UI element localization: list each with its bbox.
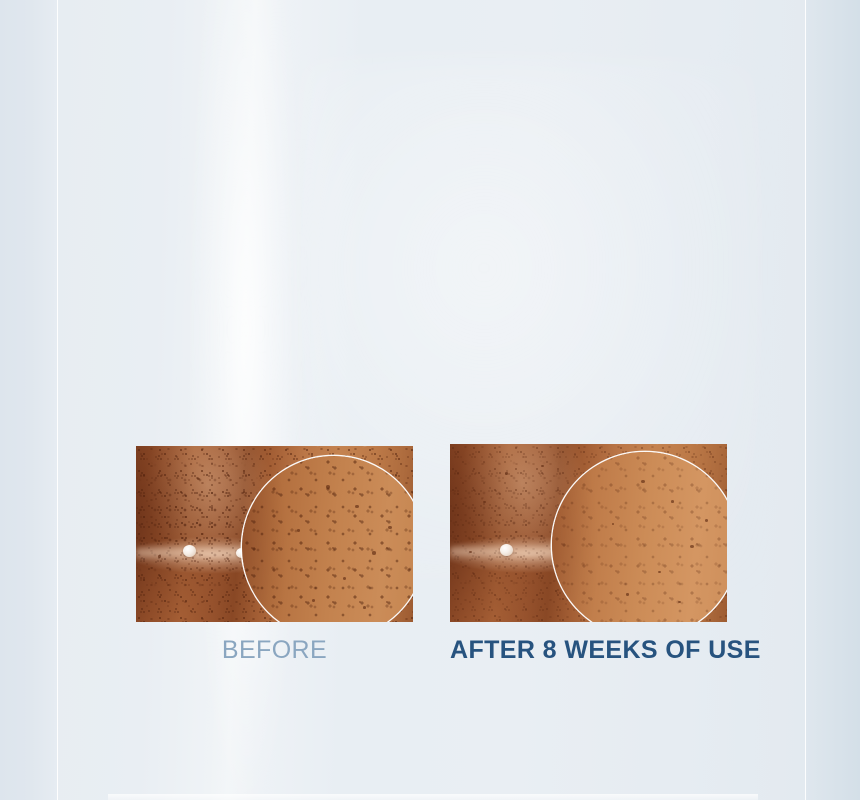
product-droplet-left (183, 545, 196, 557)
right-panel-divider (805, 0, 806, 800)
product-droplet-left (500, 544, 513, 556)
comparison-page: BEFORE AFTER 8 WEEKS OF USE (0, 0, 860, 800)
before-magnifier-circle (242, 456, 413, 622)
magnified-spots (552, 452, 727, 622)
after-magnifier-circle (552, 452, 727, 622)
left-panel-divider (57, 0, 58, 800)
before-caption: BEFORE (136, 638, 413, 663)
content-panel (58, 0, 805, 800)
after-caption: AFTER 8 WEEKS OF USE (450, 638, 727, 663)
right-gutter-column (806, 0, 860, 800)
magnified-spots (242, 456, 413, 622)
before-photo[interactable] (136, 446, 413, 622)
after-photo[interactable] (450, 444, 727, 622)
left-gutter-column (0, 0, 57, 800)
